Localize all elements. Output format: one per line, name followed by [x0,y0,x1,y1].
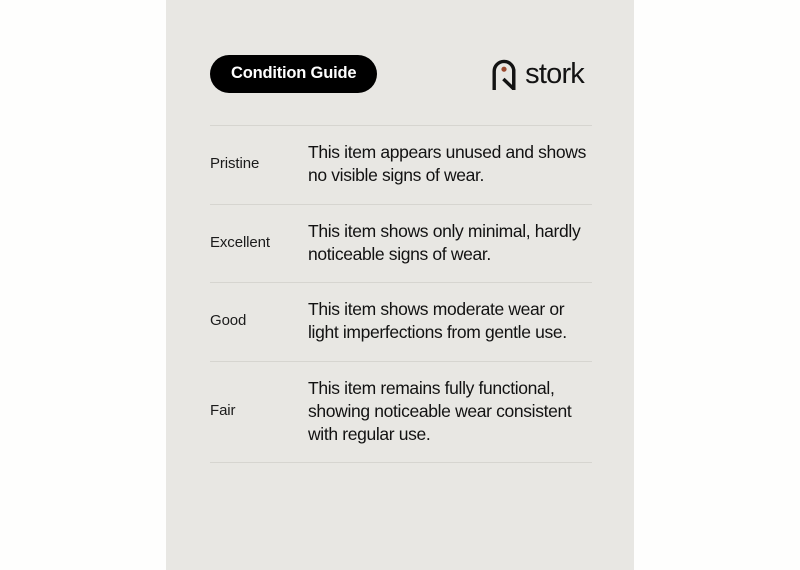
table-row: Good This item shows moderate wear or li… [210,283,592,361]
condition-guide-card: Condition Guide stork Pristine This item… [166,0,634,570]
brand-logo: stork [491,58,584,90]
condition-label: Excellent [210,234,308,252]
brand-wordmark: stork [525,60,584,89]
condition-label: Pristine [210,155,308,173]
condition-guide-pill[interactable]: Condition Guide [210,55,377,93]
card-header: Condition Guide stork [210,54,592,94]
condition-guide-table: Pristine This item appears unused and sh… [210,125,592,463]
condition-description: This item shows moderate wear or light i… [308,298,592,345]
table-divider-bottom [210,462,592,463]
table-row: Pristine This item appears unused and sh… [210,126,592,204]
condition-description: This item appears unused and shows no vi… [308,141,592,188]
condition-label: Good [210,312,308,330]
table-row: Excellent This item shows only minimal, … [210,205,592,283]
condition-label: Fair [210,402,308,420]
condition-description: This item shows only minimal, hardly not… [308,220,592,267]
condition-description: This item remains fully functional, show… [308,377,592,447]
table-row: Fair This item remains fully functional,… [210,362,592,463]
stork-arch-icon [491,58,517,90]
